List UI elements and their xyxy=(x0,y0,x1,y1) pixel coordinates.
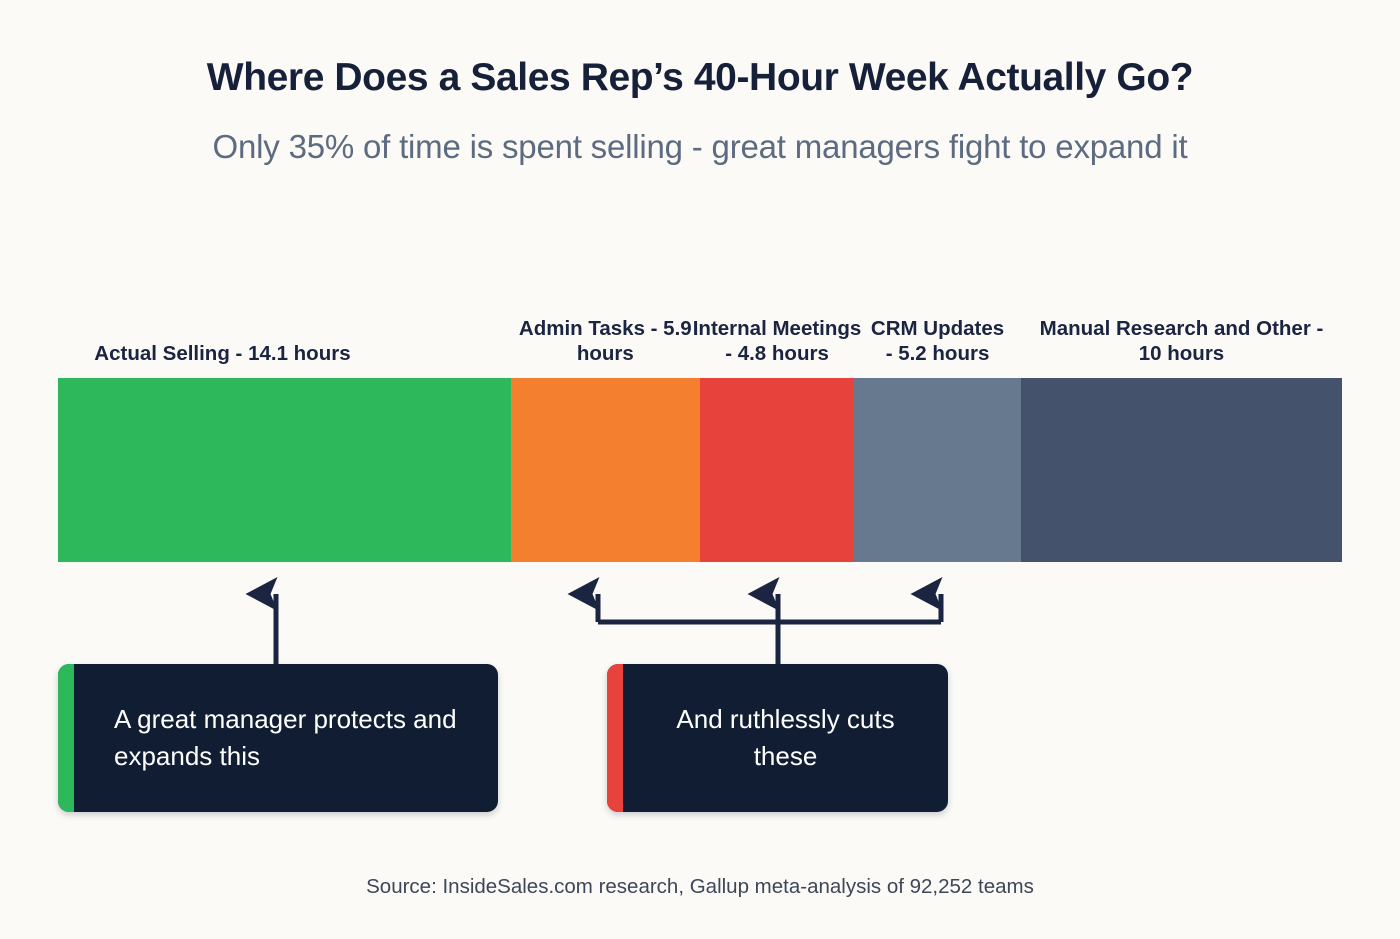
page-title: Where Does a Sales Rep’s 40-Hour Week Ac… xyxy=(0,56,1400,100)
bar-segment-manual-research xyxy=(1021,378,1342,562)
callout-cut-these: And ruthlessly cuts these xyxy=(607,664,948,812)
callout-right-text: And ruthlessly cuts these xyxy=(623,701,948,776)
bar-segment-internal-meetings xyxy=(700,378,854,562)
bar-segment-crm-updates xyxy=(854,378,1021,562)
bar-segment-admin-tasks xyxy=(511,378,700,562)
stacked-bar xyxy=(58,378,1342,562)
source-note: Source: InsideSales.com research, Gallup… xyxy=(0,875,1400,899)
callout-accent-green xyxy=(58,664,74,812)
callout-accent-red xyxy=(607,664,623,812)
callout-protect-selling: A great manager protects and expands thi… xyxy=(58,664,498,812)
bar-segment-actual-selling xyxy=(58,378,511,562)
segment-labels-row: Actual Selling - 14.1 hours Admin Tasks … xyxy=(58,246,1342,366)
callout-left-text: A great manager protects and expands thi… xyxy=(74,701,498,776)
page-subtitle: Only 35% of time is spent selling - grea… xyxy=(0,128,1400,166)
infographic-canvas: Where Does a Sales Rep’s 40-Hour Week Ac… xyxy=(0,0,1400,939)
